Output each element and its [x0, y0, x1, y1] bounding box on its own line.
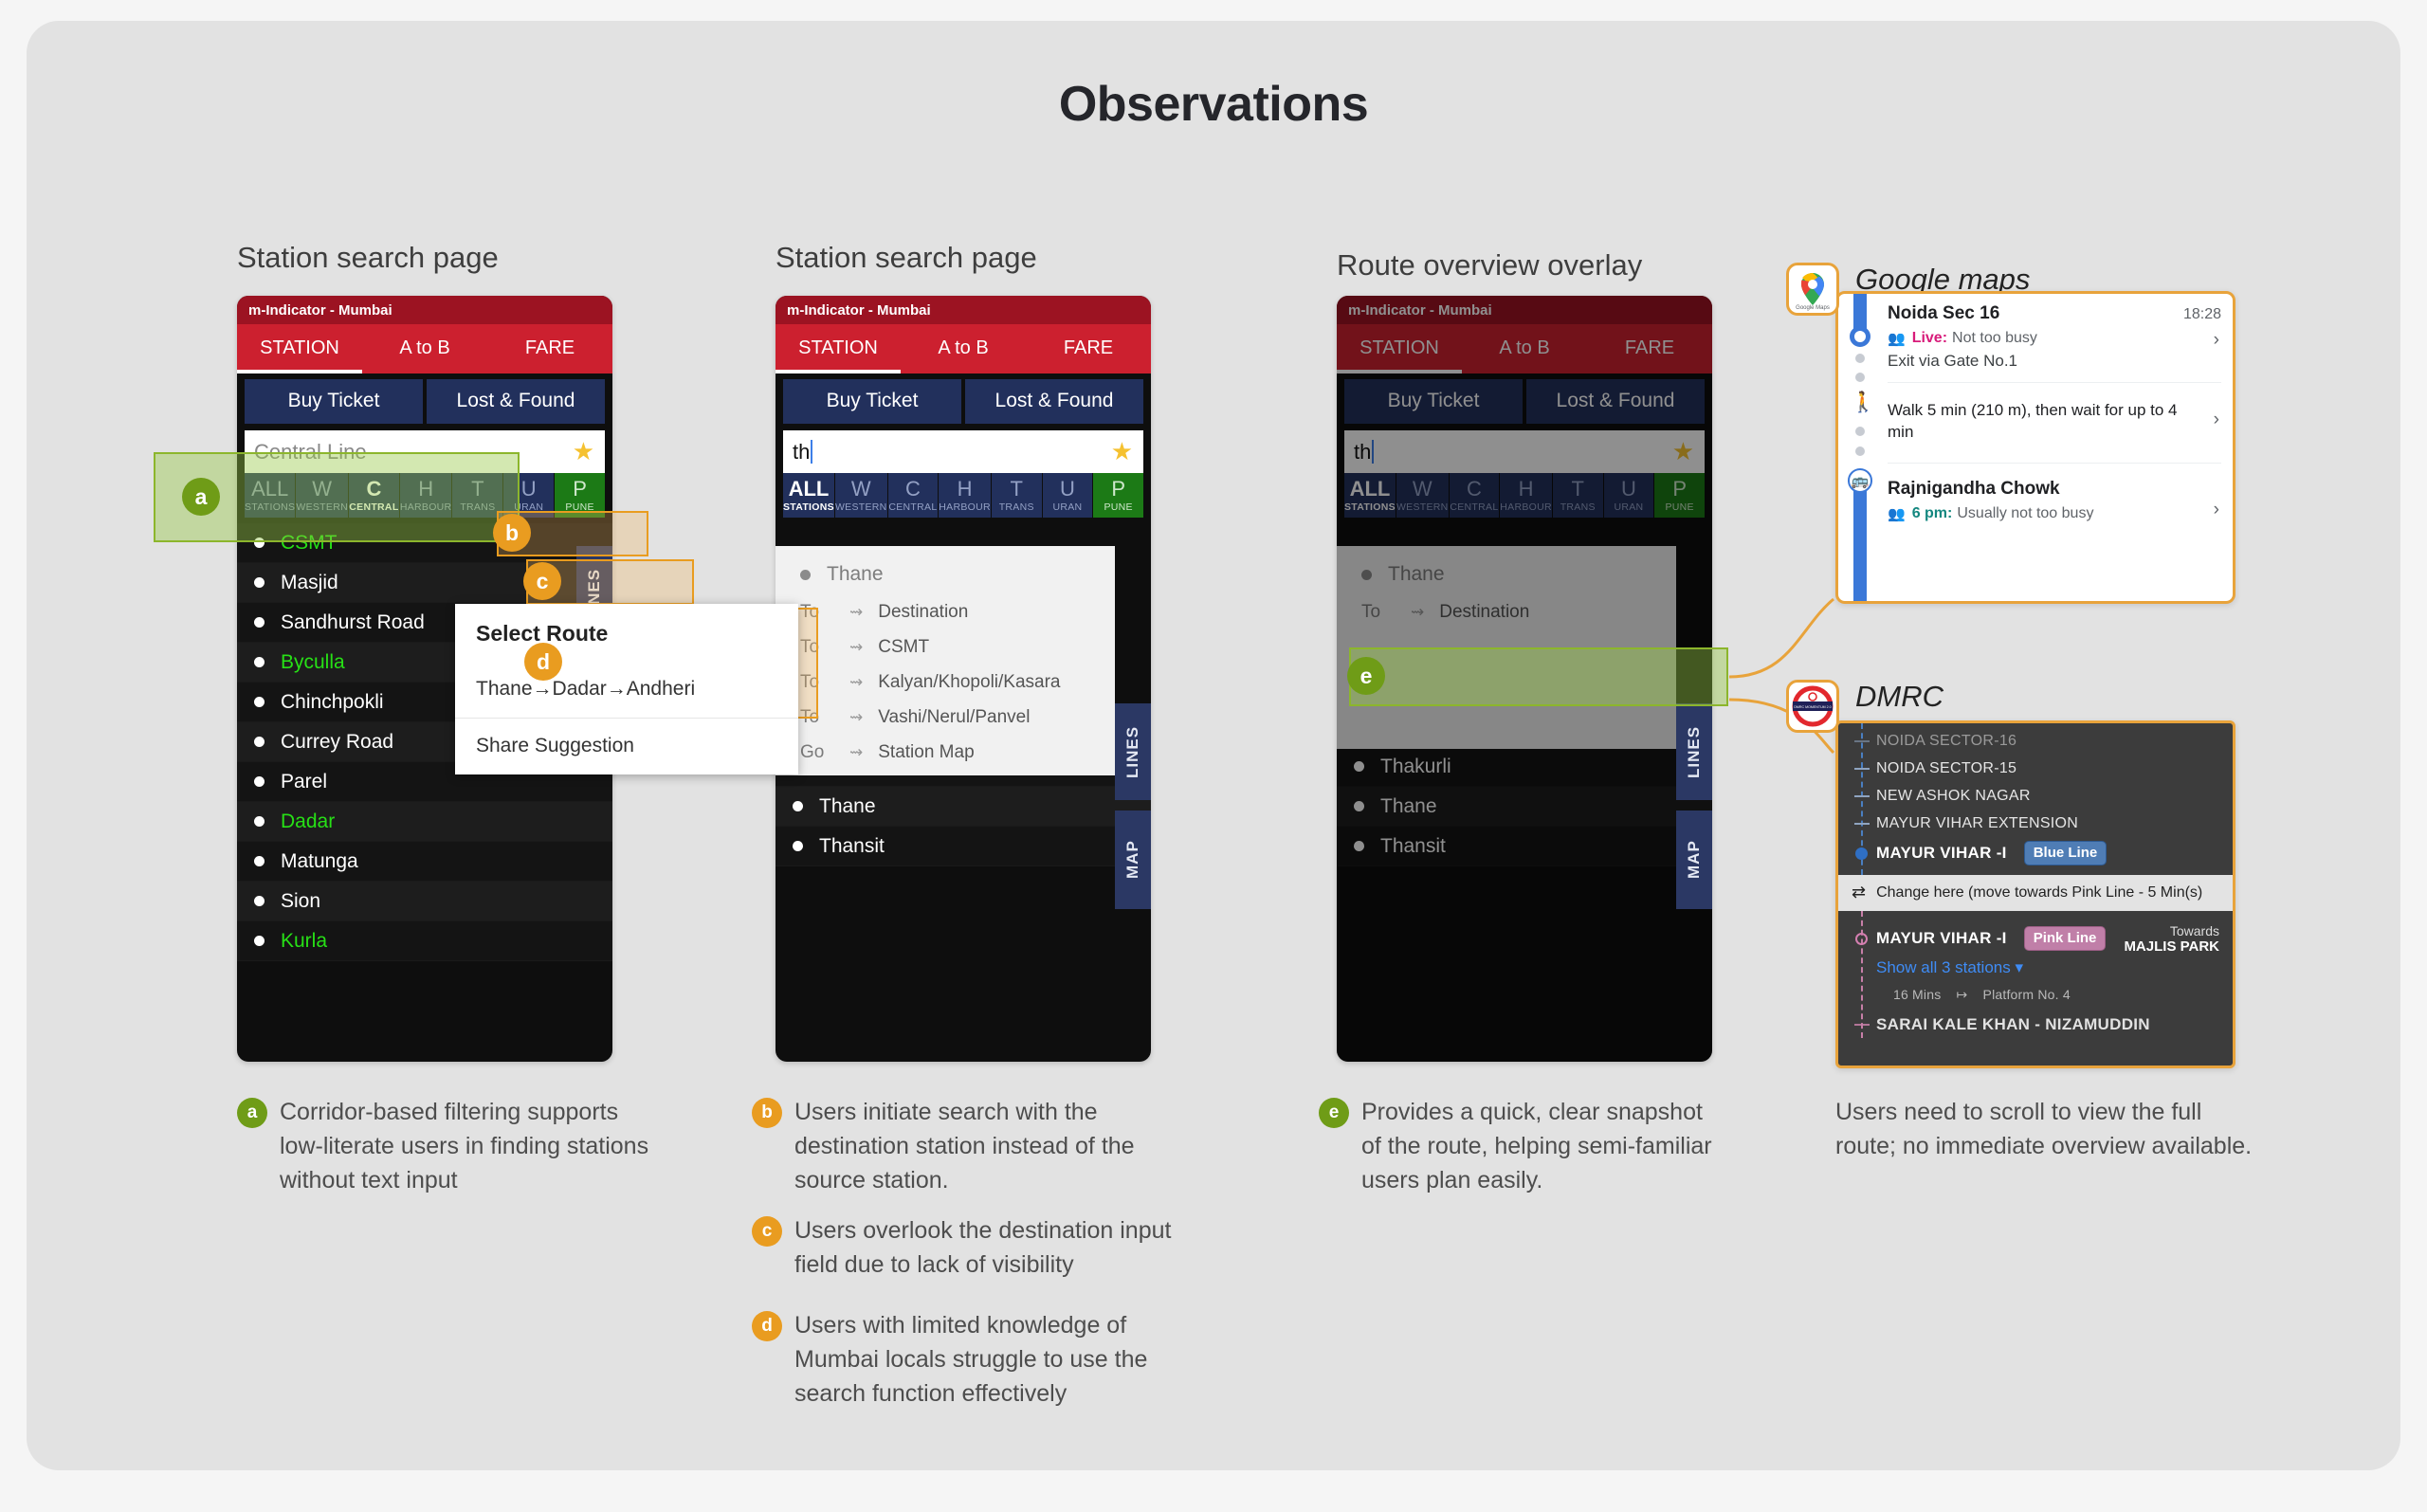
- caption-f: Users need to scroll to view the full ro…: [1835, 1095, 2262, 1163]
- caption-badge-c: c: [752, 1216, 782, 1247]
- corridor-uran[interactable]: UURAN: [503, 473, 555, 518]
- corridor-trans[interactable]: TTRANS: [1553, 473, 1604, 518]
- show-all-stations-link[interactable]: Show all 3 stations ▾: [1838, 955, 2233, 981]
- quick-actions-row: Buy Ticket Lost & Found: [776, 373, 1151, 428]
- dmrc-card-label: DMRC: [1855, 680, 1943, 714]
- search-placeholder-1: Central Line: [254, 440, 367, 465]
- corridor-uran[interactable]: UURAN: [1043, 473, 1094, 518]
- arrow-right-icon: ⇝: [849, 673, 863, 692]
- corridor-western[interactable]: WWESTERN: [835, 473, 888, 518]
- dmrc-change-note: ⇄ Change here (move towards Pink Line - …: [1838, 875, 2233, 911]
- dmrc-route-card: NOIDA SECTOR-16 NOIDA SECTOR-15 NEW ASHO…: [1835, 720, 2235, 1068]
- gmaps-step-walk[interactable]: Walk 5 min (210 m), then wait for up to …: [1888, 383, 2221, 464]
- dropdown-option-csmt[interactable]: To⇝CSMT: [800, 629, 1115, 665]
- caption-c: c Users overlook the destination input f…: [752, 1213, 1197, 1282]
- quick-actions-row: Buy Ticket Lost & Found: [237, 373, 612, 428]
- arrow-right-icon: ⇝: [849, 638, 863, 657]
- chevron-right-icon[interactable]: ›: [2214, 500, 2219, 520]
- station-dot-icon: [793, 801, 803, 811]
- svg-text:Google Maps: Google Maps: [1796, 305, 1830, 311]
- annotation-badge-a: a: [182, 478, 220, 516]
- corridor-filter-row-2: ALLSTATIONS WWESTERN CCENTRAL HHARBOUR T…: [783, 473, 1143, 518]
- corridor-uran[interactable]: UURAN: [1604, 473, 1655, 518]
- tab-fare[interactable]: FARE: [1026, 324, 1151, 373]
- corridor-filter-row-3: ALLSTATIONS WWESTERN CCENTRAL HHARBOUR T…: [1344, 473, 1705, 518]
- blue-line-pill: Blue Line: [2024, 841, 2108, 865]
- list-item[interactable]: Kurla: [237, 921, 612, 961]
- tab-a-to-b[interactable]: A to B: [362, 324, 487, 373]
- dropdown-station-header[interactable]: Thane: [1361, 555, 1676, 594]
- caption-e: e Provides a quick, clear snapshot of th…: [1319, 1095, 1726, 1197]
- poster-canvas: Observations Station search page Station…: [27, 21, 2400, 1470]
- map-button[interactable]: MAP: [1115, 811, 1151, 909]
- dmrc-station-row[interactable]: SARAI KALE KHAN - NIZAMUDDIN: [1838, 1011, 2233, 1038]
- caption-text-d: Users with limited knowledge of Mumbai l…: [794, 1308, 1197, 1411]
- phone-mockup-station-search-typed: m-Indicator - Mumbai STATION A to B FARE…: [776, 296, 1151, 1062]
- favorite-star-icon[interactable]: ★: [573, 439, 594, 464]
- app-tabs: STATION A to B FARE: [776, 324, 1151, 373]
- corridor-western[interactable]: WWESTERN: [296, 473, 349, 518]
- dmrc-blue-segment: NOIDA SECTOR-16 NOIDA SECTOR-15 NEW ASHO…: [1838, 723, 2233, 875]
- corridor-central[interactable]: CCENTRAL: [349, 473, 400, 518]
- station-options-dropdown-2: Thane To⇝Destination To⇝CSMT To⇝Kalyan/K…: [776, 546, 1115, 775]
- station-dot-icon: [254, 816, 265, 827]
- corridor-all[interactable]: ALLSTATIONS: [783, 473, 835, 518]
- app-tabs: STATION A to B FARE: [237, 324, 612, 373]
- tab-station[interactable]: STATION: [237, 324, 362, 373]
- gmaps-live-text: Usually not too busy: [1957, 505, 2093, 522]
- list-item[interactable]: Thansit: [776, 827, 1151, 866]
- dropdown-option-destination[interactable]: To⇝Destination: [1361, 594, 1676, 629]
- dmrc-icon: DMRC MOMENTUM 2.0: [1786, 680, 1839, 733]
- text-caret: [1372, 440, 1374, 464]
- buy-ticket-button[interactable]: Buy Ticket: [245, 379, 423, 424]
- buy-ticket-button[interactable]: Buy Ticket: [1344, 379, 1523, 424]
- caption-text-c: Users overlook the destination input fie…: [794, 1213, 1197, 1282]
- search-input-2[interactable]: th ★: [783, 430, 1143, 473]
- google-maps-route-card: 🚶 🚌 Noida Sec 16 18:28 👥 Live: Not too b…: [1835, 291, 2235, 604]
- select-route-option-1[interactable]: Thane→Dadar→Andheri: [455, 662, 798, 718]
- app-window-title: m-Indicator - Mumbai: [237, 296, 612, 324]
- exit-icon: ↦: [1957, 987, 1968, 1002]
- gmaps-walk-text: Walk 5 min (210 m), then wait for up to …: [1888, 400, 2221, 444]
- corridor-trans[interactable]: TTRANS: [452, 473, 503, 518]
- transfer-icon: ⇄: [1852, 883, 1866, 902]
- caption-text-e: Provides a quick, clear snapshot of the …: [1361, 1095, 1726, 1197]
- dropdown-station-header[interactable]: Thane: [800, 555, 1115, 594]
- dmrc-station-row[interactable]: NEW ASHOK NAGAR: [1838, 782, 2233, 810]
- active-tab-underline: [237, 370, 362, 373]
- gmaps-live-label: Live:: [1912, 330, 1947, 347]
- list-item[interactable]: Matunga: [237, 842, 612, 882]
- page-title: Observations: [27, 76, 2400, 133]
- station-dot-icon: [793, 841, 803, 851]
- column-heading-1: Station search page: [237, 241, 499, 275]
- quick-actions-row: Buy Ticket Lost & Found: [1337, 373, 1712, 428]
- dropdown-option-station-map[interactable]: Go⇝Station Map: [800, 735, 1115, 770]
- gmaps-step-name: Rajnigandha Chowk: [1888, 479, 2060, 500]
- favorite-star-icon[interactable]: ★: [1672, 439, 1694, 464]
- column-heading-3: Route overview overlay: [1337, 248, 1642, 282]
- pink-line-pill: Pink Line: [2024, 926, 2107, 951]
- dmrc-pink-station-row[interactable]: MAYUR VIHAR -I Pink Line Towards MAJLIS …: [1838, 922, 2233, 955]
- text-caret: [811, 440, 812, 464]
- dmrc-station-row[interactable]: NOIDA SECTOR-16: [1838, 727, 2233, 755]
- list-item[interactable]: Thansit: [1337, 827, 1712, 866]
- chevron-right-icon[interactable]: ›: [2214, 410, 2219, 430]
- corridor-harbour[interactable]: HHARBOUR: [400, 473, 453, 518]
- arrow-right-icon: ⇝: [849, 603, 863, 622]
- dropdown-option-kalyan[interactable]: To⇝Kalyan/Khopoli/Kasara: [800, 665, 1115, 700]
- station-dot-icon: [254, 697, 265, 707]
- caption-text-a: Corridor-based filtering supports low-li…: [280, 1095, 654, 1197]
- station-dot-icon: [254, 617, 265, 628]
- corridor-central[interactable]: CCENTRAL: [888, 473, 940, 518]
- search-value-2: th: [793, 440, 810, 465]
- dmrc-meta: 16 Mins ↦ Platform No. 4: [1838, 981, 2233, 1007]
- dmrc-towards: Towards MAJLIS PARK: [2124, 923, 2219, 955]
- annotation-badge-b: b: [493, 514, 531, 552]
- caption-badge-e: e: [1319, 1098, 1349, 1128]
- station-dot-icon: [1354, 801, 1364, 811]
- bus-icon: 🚌: [1848, 468, 1872, 493]
- dropdown-station-name: Thane: [827, 563, 884, 586]
- list-item[interactable]: Sion: [237, 882, 612, 921]
- annotation-badge-c: c: [523, 562, 561, 600]
- lines-button[interactable]: LINES: [1676, 703, 1712, 800]
- caption-b: b Users initiate search with the destina…: [752, 1095, 1197, 1197]
- dropdown-option-vashi[interactable]: To⇝Vashi/Nerul/Panvel: [800, 700, 1115, 735]
- tab-a-to-b[interactable]: A to B: [901, 324, 1026, 373]
- corridor-trans[interactable]: TTRANS: [992, 473, 1043, 518]
- select-route-title: Select Route: [455, 604, 798, 662]
- people-icon: 👥: [1888, 330, 1906, 347]
- app-window-title: m-Indicator - Mumbai: [1337, 296, 1712, 324]
- app-tabs: STATION A to B FARE: [1337, 324, 1712, 373]
- list-item[interactable]: Thakurli: [1337, 747, 1712, 787]
- list-item[interactable]: Thane: [776, 787, 1151, 827]
- arrow-right-icon: ⇝: [849, 708, 863, 727]
- corridor-central[interactable]: CCENTRAL: [1450, 473, 1501, 518]
- gmaps-step-origin[interactable]: Noida Sec 16 18:28 👥 Live: Not too busy …: [1888, 294, 2221, 383]
- select-route-option-2[interactable]: Share Suggestion: [455, 718, 798, 774]
- lines-button[interactable]: LINES: [1115, 703, 1151, 800]
- station-dot-icon: [1354, 841, 1364, 851]
- tab-station[interactable]: STATION: [1337, 324, 1462, 373]
- station-dot-icon: [254, 657, 265, 667]
- corridor-harbour[interactable]: HHARBOUR: [1500, 473, 1553, 518]
- list-item[interactable]: Dadar: [237, 802, 612, 842]
- side-buttons-2: LINES MAP: [1115, 703, 1151, 909]
- station-dot-icon: [254, 577, 265, 588]
- caption-a: a Corridor-based filtering supports low-…: [237, 1095, 654, 1197]
- gmaps-route-rail: 🚶 🚌: [1838, 294, 1882, 601]
- corridor-pune[interactable]: PPUNE: [1093, 473, 1143, 518]
- corridor-pune[interactable]: PPUNE: [555, 473, 605, 518]
- dropdown-option-destination[interactable]: To⇝Destination: [800, 594, 1115, 629]
- dmrc-station-row[interactable]: NOIDA SECTOR-15: [1838, 755, 2233, 782]
- chevron-right-icon[interactable]: ›: [2214, 330, 2219, 351]
- caption-badge-b: b: [752, 1098, 782, 1128]
- map-button[interactable]: MAP: [1676, 811, 1712, 909]
- caption-d: d Users with limited knowledge of Mumbai…: [752, 1308, 1197, 1411]
- gmaps-live-text: Not too busy: [1952, 330, 2037, 347]
- corridor-all[interactable]: ALLSTATIONS: [1344, 473, 1396, 518]
- favorite-star-icon[interactable]: ★: [1111, 439, 1133, 464]
- dmrc-pink-segment: MAYUR VIHAR -I Pink Line Towards MAJLIS …: [1838, 911, 2233, 1038]
- arrow-right-icon: ⇝: [849, 743, 863, 762]
- caption-text-b: Users initiate search with the destinati…: [794, 1095, 1197, 1197]
- station-list-3: Thakurli Thane Thansit: [1337, 747, 1712, 866]
- corridor-all[interactable]: ALLSTATIONS: [245, 473, 296, 518]
- people-icon: 👥: [1888, 505, 1906, 522]
- gmaps-step-name: Noida Sec 16: [1888, 303, 1999, 324]
- station-dot-icon: [1361, 570, 1372, 580]
- station-dot-icon: [1354, 761, 1364, 772]
- corridor-filter-row-1: ALLSTATIONS WWESTERN CCENTRAL HHARBOUR T…: [245, 473, 605, 518]
- station-dot-icon: [254, 737, 265, 747]
- dropdown-station-name: Thane: [1388, 563, 1445, 586]
- list-item[interactable]: Thane: [1337, 787, 1712, 827]
- gmaps-step-stop[interactable]: Rajnigandha Chowk 👥 6 pm: Usually not to…: [1888, 464, 2221, 536]
- chevron-down-icon[interactable]: ▾: [2015, 958, 2023, 976]
- lost-and-found-button[interactable]: Lost & Found: [965, 379, 1143, 424]
- arrow-right-icon: ⇝: [1411, 603, 1424, 622]
- caption-text-f: Users need to scroll to view the full ro…: [1835, 1095, 2262, 1163]
- station-dot-icon: [254, 776, 265, 787]
- app-window-title: m-Indicator - Mumbai: [776, 296, 1151, 324]
- gmaps-step-time: 18:28: [2183, 306, 2221, 323]
- google-maps-icon: Google Maps: [1786, 263, 1839, 316]
- station-dot-icon: [800, 570, 811, 580]
- tab-fare[interactable]: FARE: [1587, 324, 1712, 373]
- tab-fare[interactable]: FARE: [487, 324, 612, 373]
- station-options-dropdown-3: Thane To⇝Destination: [1337, 546, 1676, 749]
- station-dot-icon: [254, 856, 265, 866]
- active-tab-underline: [1337, 370, 1462, 373]
- caption-badge-d: d: [752, 1311, 782, 1341]
- station-dot-icon: [254, 936, 265, 946]
- lost-and-found-button[interactable]: Lost & Found: [427, 379, 605, 424]
- gmaps-step-sub: Exit via Gate No.1: [1888, 352, 2221, 371]
- dmrc-interchange-row[interactable]: MAYUR VIHAR -I Blue Line: [1838, 837, 2233, 869]
- list-item[interactable]: CSMT: [237, 523, 612, 563]
- annotation-badge-d: d: [524, 643, 562, 681]
- phone-mockup-route-overlay: m-Indicator - Mumbai STATION A to B FARE…: [1337, 296, 1712, 1062]
- search-input-3[interactable]: th ★: [1344, 430, 1705, 473]
- lost-and-found-button[interactable]: Lost & Found: [1526, 379, 1705, 424]
- search-value-3: th: [1354, 440, 1371, 465]
- dmrc-station-row[interactable]: MAYUR VIHAR EXTENSION: [1838, 810, 2233, 837]
- buy-ticket-button[interactable]: Buy Ticket: [783, 379, 961, 424]
- walk-icon: 🚶: [1851, 392, 1875, 414]
- station-dot-icon: [254, 537, 265, 548]
- tab-a-to-b[interactable]: A to B: [1462, 324, 1587, 373]
- station-dot-icon: [254, 896, 265, 906]
- caption-badge-a: a: [237, 1098, 267, 1128]
- select-route-dialog: Select Route Thane→Dadar→Andheri Share S…: [455, 604, 798, 774]
- corridor-western[interactable]: WWESTERN: [1396, 473, 1450, 518]
- search-input-1[interactable]: Central Line ★: [245, 430, 605, 473]
- svg-text:DMRC MOMENTUM 2.0: DMRC MOMENTUM 2.0: [1794, 705, 1831, 709]
- column-heading-2: Station search page: [776, 241, 1037, 275]
- annotation-badge-e: e: [1347, 657, 1385, 695]
- side-buttons-3: LINES MAP: [1676, 703, 1712, 909]
- corridor-pune[interactable]: PPUNE: [1654, 473, 1705, 518]
- corridor-harbour[interactable]: HHARBOUR: [939, 473, 992, 518]
- gmaps-live-label: 6 pm:: [1912, 505, 1953, 522]
- tab-station[interactable]: STATION: [776, 324, 901, 373]
- active-tab-underline: [776, 370, 901, 373]
